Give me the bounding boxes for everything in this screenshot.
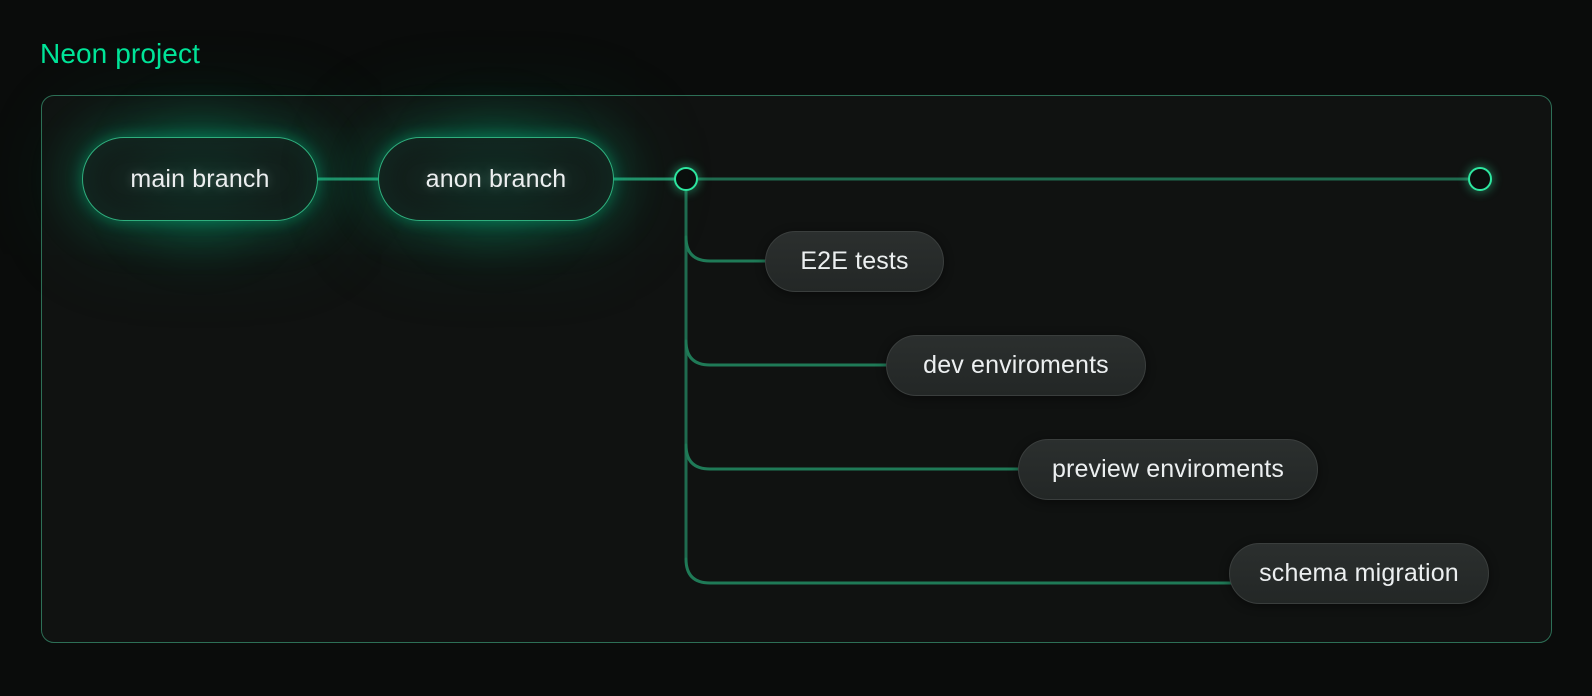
branch-point-node[interactable] — [674, 167, 698, 191]
branch-pill-e2e-tests[interactable]: E2E tests — [765, 231, 944, 292]
branch-label-schema-migration: schema migration — [1259, 559, 1459, 588]
timeline-end-node[interactable] — [1468, 167, 1492, 191]
branch-label-dev-enviroments: dev enviroments — [923, 351, 1109, 380]
branch-pill-anon-branch[interactable]: anon branch — [378, 137, 614, 221]
branch-pill-schema-migration[interactable]: schema migration — [1229, 543, 1489, 604]
branch-label-anon-branch: anon branch — [426, 165, 567, 194]
branch-label-main-branch: main branch — [130, 165, 269, 194]
branch-pill-main-branch[interactable]: main branch — [82, 137, 318, 221]
diagram-canvas: Neon project — [0, 0, 1592, 696]
branch-pill-dev-enviroments[interactable]: dev enviroments — [886, 335, 1146, 396]
page-title: Neon project — [40, 38, 200, 70]
branch-label-preview-enviroments: preview enviroments — [1052, 455, 1284, 484]
branch-label-e2e-tests: E2E tests — [800, 247, 908, 276]
branch-pill-preview-enviroments[interactable]: preview enviroments — [1018, 439, 1318, 500]
